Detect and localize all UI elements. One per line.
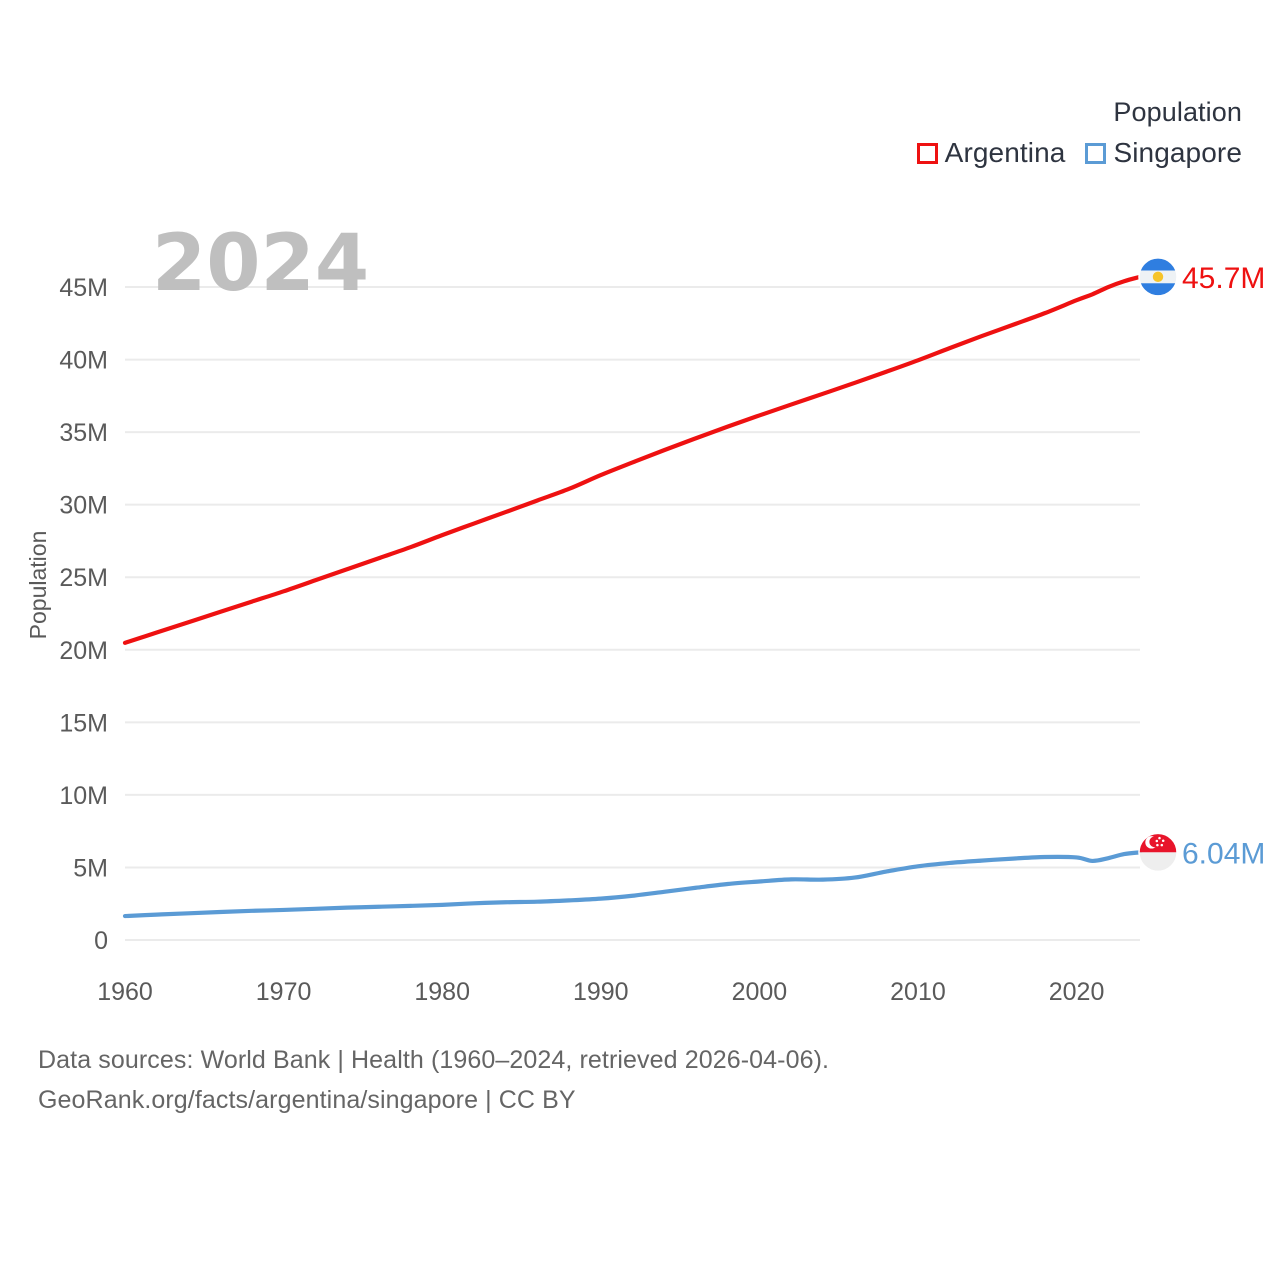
endpoint-markers: 45.7M6.04M [1139, 258, 1265, 872]
x-tick-label: 1960 [97, 978, 153, 1006]
endpoint-value-argentina: 45.7M [1182, 262, 1265, 295]
series-lines [125, 277, 1140, 916]
series-line-singapore [125, 852, 1140, 916]
series-line-argentina [125, 277, 1140, 643]
plot-area: 05M10M15M20M25M30M35M40M45M 196019701980… [0, 0, 1280, 1010]
y-tick-label: 10M [59, 782, 108, 810]
y-tick-label: 45M [59, 274, 108, 302]
y-tick-label: 20M [59, 637, 108, 665]
chart-footer: Data sources: World Bank | Health (1960–… [38, 1040, 1218, 1120]
gridlines [125, 287, 1140, 940]
x-tick-label: 1990 [573, 978, 629, 1006]
endpoint-value-singapore: 6.04M [1182, 837, 1265, 870]
y-tick-label: 25M [59, 564, 108, 592]
y-tick-label: 35M [59, 419, 108, 447]
y-tick-label: 30M [59, 492, 108, 520]
chart-page: Population Argentina Singapore [0, 0, 1280, 1280]
x-tick-label: 2000 [732, 978, 788, 1006]
x-tick-label: 1970 [256, 978, 312, 1006]
endpoint-argentina: 45.7M [1139, 258, 1265, 296]
y-tick-label: 5M [73, 854, 108, 882]
x-tick-label: 1980 [414, 978, 470, 1006]
endpoint-singapore: 6.04M [1139, 833, 1265, 871]
x-tick-label: 2010 [890, 978, 946, 1006]
y-tick-label: 40M [59, 347, 108, 375]
footer-data-sources: Data sources: World Bank | Health (1960–… [38, 1040, 1218, 1080]
y-axis-ticks: 05M10M15M20M25M30M35M40M45M [59, 274, 108, 955]
x-tick-label: 2020 [1049, 978, 1105, 1006]
x-axis-ticks: 1960197019801990200020102020 [97, 978, 1104, 1006]
y-tick-label: 15M [59, 709, 108, 737]
y-axis-title: Population [25, 531, 51, 640]
watermark-year: 2024 [152, 219, 369, 309]
y-tick-label: 0 [94, 927, 108, 955]
footer-attribution: GeoRank.org/facts/argentina/singapore | … [38, 1080, 1218, 1120]
